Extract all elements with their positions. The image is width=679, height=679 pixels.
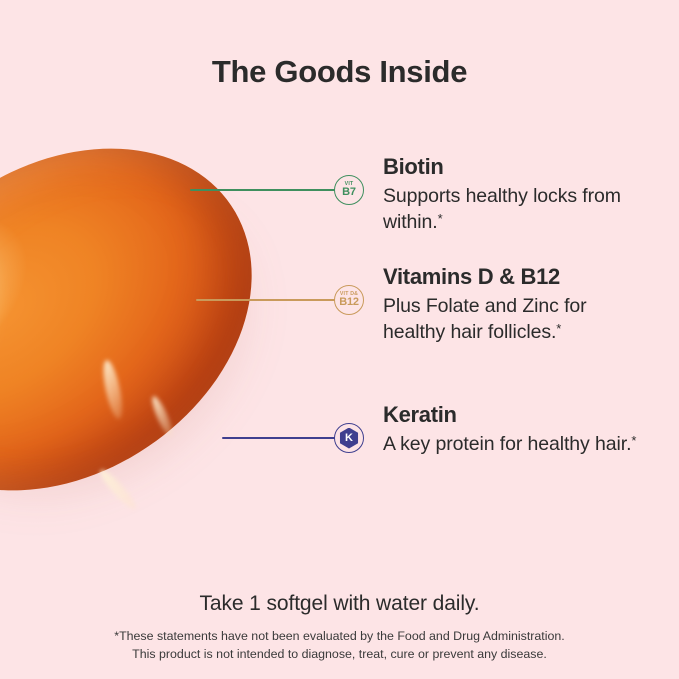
leader-line-biotin [190, 189, 336, 191]
nutrient-name: Biotin [383, 155, 643, 179]
nutrient-name: Keratin [383, 403, 643, 427]
footnote-asterisk: * [631, 433, 636, 448]
infographic-canvas: The Goods Inside VIT B7 Biotin Supports … [0, 0, 679, 679]
softgel-capsule-image [0, 148, 288, 498]
disclaimer-line-1: *These statements have not been evaluate… [0, 628, 679, 646]
nutrient-description-text: A key protein for healthy hair. [383, 433, 631, 455]
page-title: The Goods Inside [0, 54, 679, 90]
nutrient-text-block: Vitamins D & B12 Plus Folate and Zinc fo… [383, 265, 643, 346]
badge-keratin-icon: K [334, 423, 364, 453]
badge-label: B12 [339, 297, 359, 308]
nutrient-text-block: Keratin A key protein for healthy hair.* [383, 403, 643, 458]
hexagon-shape: K [339, 428, 360, 449]
badge-label: K [345, 433, 353, 444]
capsule-highlight-2 [149, 394, 176, 438]
nutrient-description-text: Supports healthy locks from within. [383, 185, 621, 233]
badge-label: B7 [342, 187, 356, 198]
leader-line-vitamins [196, 299, 336, 301]
footnote-asterisk: * [556, 321, 561, 336]
badge-vitamin-d-b12-icon: VIT D& B12 [334, 285, 364, 315]
nutrient-description: A key protein for healthy hair.* [383, 432, 643, 458]
footnote-asterisk: * [438, 211, 443, 226]
leader-line-keratin [222, 437, 336, 439]
capsule-rim-light [0, 212, 31, 433]
capsule-highlight-1 [100, 359, 126, 421]
badge-vitamin-b7-icon: VIT B7 [334, 175, 364, 205]
nutrient-description: Supports healthy locks from within.* [383, 184, 643, 235]
disclaimer-line-2: This product is not intended to diagnose… [0, 646, 679, 664]
nutrient-name: Vitamins D & B12 [383, 265, 643, 289]
nutrient-description: Plus Folate and Zinc for healthy hair fo… [383, 294, 643, 345]
nutrient-text-block: Biotin Supports healthy locks from withi… [383, 155, 643, 236]
fda-disclaimer: *These statements have not been evaluate… [0, 628, 679, 663]
dosage-instruction: Take 1 softgel with water daily. [0, 592, 679, 616]
